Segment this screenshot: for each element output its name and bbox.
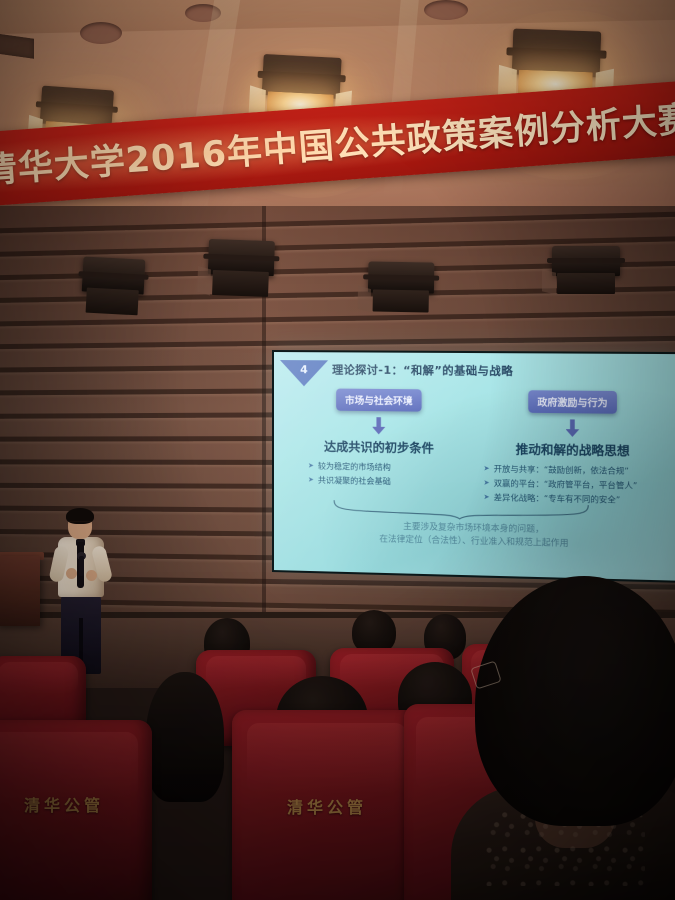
foreground-hair — [475, 576, 675, 826]
list-item-label: 开放与共享：“鼓励创新，依法合规” — [494, 463, 629, 478]
left-column-heading: 达成共识的初步条件 — [298, 437, 461, 456]
list-item: ➤ 开放与共享：“鼓励创新，依法合规” — [483, 463, 673, 478]
chevron-right-icon: ➤ — [483, 463, 489, 475]
ceiling-vent — [424, 0, 468, 20]
theater-seat-front-middle: 清华公管 — [232, 710, 422, 900]
slide-number: 4 — [280, 363, 328, 376]
ceiling-vent — [185, 4, 221, 22]
ceiling-spotlight-dark-4 — [552, 246, 620, 294]
foreground-audience-member — [455, 576, 675, 900]
presentation-slide: 4 理论探讨-1：“和解”的基础与战略 市场与社会环境 达成共识的初步条件 ➤ … — [274, 352, 675, 581]
list-item-label: 共识凝聚的社会基础 — [318, 475, 391, 488]
list-item-label: 双赢的平台：“政府管平台，平台管人” — [494, 478, 638, 493]
theater-seat-front-left: 清华公管 — [0, 720, 152, 900]
down-arrow-icon — [566, 419, 580, 437]
slide-number-badge: 4 — [280, 360, 328, 386]
list-item: ➤ 共识凝聚的社会基础 — [308, 475, 461, 490]
right-caption-box: 政府激励与行为 — [528, 390, 617, 414]
lecture-hall-photo: 清华大学2016年中国公共政策案例分析大赛 — [0, 0, 675, 900]
speaker-left-hand — [66, 568, 77, 579]
down-arrow-icon — [372, 417, 385, 434]
list-item: ➤ 双赢的平台：“政府管平台，平台管人” — [483, 478, 673, 494]
ceiling-spotlight-dark-1 — [81, 256, 146, 315]
audience-area: 清华公管 清华公管 — [0, 600, 675, 900]
seat-embroidery-label: 清华公管 — [0, 792, 152, 816]
ceiling-spotlight-dark-2 — [207, 239, 275, 297]
chevron-right-icon: ➤ — [483, 478, 489, 490]
slide-footnote: 主要涉及复杂市场环境本身的问题， 在法律定位（合法性）、行业准入和规范上起作用 — [292, 518, 661, 553]
ceiling-spotlight-dark-3 — [368, 261, 435, 312]
chevron-right-icon: ➤ — [308, 475, 314, 487]
left-caption-box: 市场与社会环境 — [336, 389, 422, 412]
slide-title: 理论探讨-1：“和解”的基础与战略 — [332, 361, 513, 378]
audience-hair — [146, 672, 224, 802]
speaker-right-hand — [86, 570, 97, 581]
slide-left-column: 市场与社会环境 达成共识的初步条件 ➤ 较为稳定的市场结构 ➤ 共识凝聚的社会基… — [298, 388, 461, 491]
chevron-right-icon: ➤ — [308, 461, 314, 473]
seat-embroidery-label: 清华公管 — [232, 794, 422, 818]
list-item: ➤ 较为稳定的市场结构 — [308, 461, 461, 476]
glasses-icon — [69, 521, 91, 526]
list-item-label: 较为稳定的市场结构 — [318, 461, 391, 474]
slide-right-column: 政府激励与行为 推动和解的战略思想 ➤ 开放与共享：“鼓励创新，依法合规” ➤ … — [473, 390, 674, 510]
ceiling-vent — [80, 22, 122, 44]
microphone-icon — [79, 556, 84, 576]
right-column-heading: 推动和解的战略思想 — [473, 440, 674, 460]
projection-screen: 4 理论探讨-1：“和解”的基础与战略 市场与社会环境 达成共识的初步条件 ➤ … — [272, 350, 675, 583]
ceiling-grille — [0, 33, 34, 59]
